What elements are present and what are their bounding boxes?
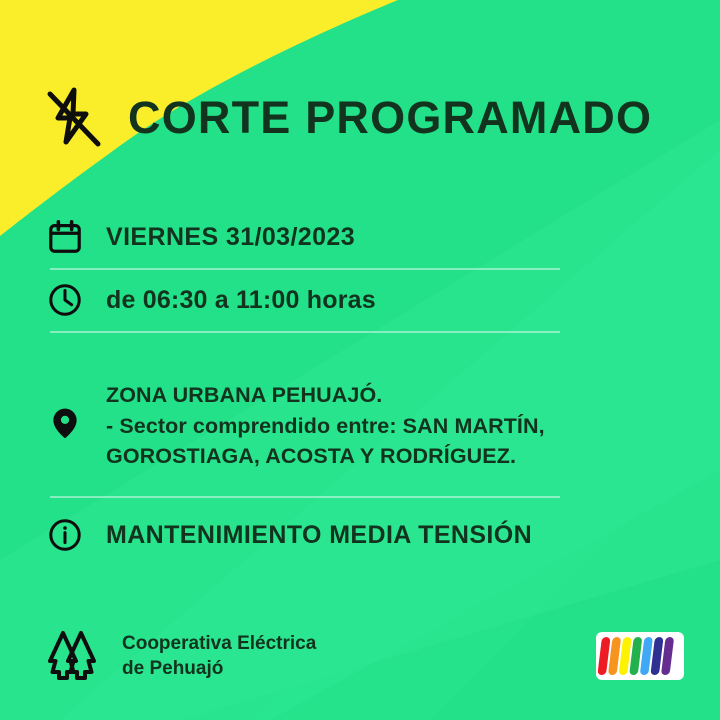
zone-line-3: GOROSTIAGA, ACOSTA Y RODRÍGUEZ. (106, 441, 545, 472)
info-circle-icon (46, 516, 84, 554)
time-value: de 06:30 a 11:00 horas (106, 286, 376, 315)
coop-name-line-2: de Pehuajó (122, 656, 316, 681)
zone-line-2: - Sector comprendido entre: SAN MARTÍN, (106, 411, 545, 442)
time-row: de 06:30 a 11:00 horas (46, 281, 376, 319)
poster-header: CORTE PROGRAMADO (40, 84, 652, 150)
zone-row: ZONA URBANA PEHUAJÓ. - Sector comprendid… (46, 380, 545, 472)
rainbow-pride-bars-logo (596, 632, 684, 680)
work-type-row: MANTENIMIENTO MEDIA TENSIÓN (46, 516, 532, 554)
footer-brand: Cooperativa Eléctrica de Pehuajó (42, 628, 316, 684)
date-value: VIERNES 31/03/2023 (106, 223, 355, 252)
divider-before-work (50, 496, 560, 498)
cooperativa-twin-peaks-logo (42, 628, 102, 684)
divider-after-date (50, 268, 560, 270)
zone-text: ZONA URBANA PEHUAJÓ. - Sector comprendid… (106, 380, 545, 472)
page-title: CORTE PROGRAMADO (128, 95, 652, 140)
work-type-value: MANTENIMIENTO MEDIA TENSIÓN (106, 521, 532, 550)
location-pin-icon (46, 404, 84, 442)
zone-line-1: ZONA URBANA PEHUAJÓ. (106, 380, 545, 411)
corte-programado-poster: CORTE PROGRAMADO VIERNES 31/03/2023 de 0… (0, 0, 720, 720)
cooperativa-name: Cooperativa Eléctrica de Pehuajó (122, 631, 316, 681)
date-row: VIERNES 31/03/2023 (46, 218, 355, 256)
calendar-icon (46, 218, 84, 256)
coop-name-line-1: Cooperativa Eléctrica (122, 631, 316, 656)
clock-icon (46, 281, 84, 319)
power-outage-bolt-icon (40, 84, 106, 150)
divider-after-time (50, 331, 560, 333)
